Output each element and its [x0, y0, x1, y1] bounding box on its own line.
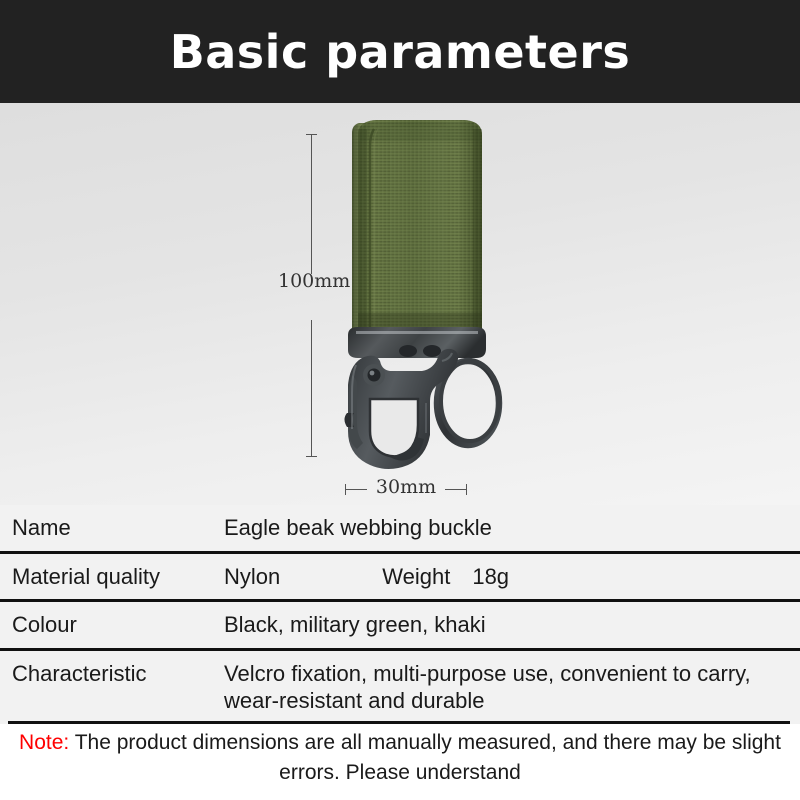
note-label: Note: [19, 731, 69, 754]
dimension-line-upper [311, 134, 312, 274]
table-row: Name Eagle beak webbing buckle [0, 505, 800, 551]
product-photo [330, 113, 520, 483]
spec-label-weight: Weight [382, 563, 450, 591]
spec-value-name: Eagle beak webbing buckle [224, 505, 792, 551]
note-block: Note: The product dimensions are all man… [0, 728, 800, 788]
dimension-tick-bottom [306, 456, 317, 457]
spec-label-name: Name [8, 505, 224, 551]
spec-value-weight: 18g [472, 563, 509, 591]
dimension-line-right [445, 489, 467, 490]
spec-label-colour: Colour [8, 602, 224, 648]
height-dimension-indicator: 100mm [311, 134, 312, 457]
table-row: Material quality NylonWeight18g [0, 551, 800, 600]
width-dimension-label: 30mm [367, 478, 445, 497]
product-spec-page: Basic parameters [0, 0, 800, 800]
product-image-area: 100mm 30mm [0, 103, 800, 505]
dimension-line-left [345, 489, 367, 490]
table-row: Characteristic Velcro fixation, multi-pu… [0, 648, 800, 724]
spec-label-characteristic: Characteristic [8, 651, 224, 697]
note-text: The product dimensions are all manually … [75, 731, 781, 784]
height-dimension-label: 100mm [278, 272, 346, 291]
spec-label-material-quality: Material quality [8, 554, 224, 600]
spec-value-material-text: Nylon [224, 564, 280, 589]
width-dimension-indicator: 30mm [345, 482, 467, 496]
specification-table: Name Eagle beak webbing buckle Material … [0, 505, 800, 724]
page-title: Basic parameters [170, 29, 631, 75]
table-bottom-divider [8, 721, 790, 724]
table-row: Colour Black, military green, khaki [0, 599, 800, 648]
spec-value-material-quality: NylonWeight18g [224, 554, 792, 600]
header-banner: Basic parameters [0, 0, 800, 103]
spec-value-colour: Black, military green, khaki [224, 602, 792, 648]
dimension-tick-right [466, 484, 467, 495]
dimension-line-lower [311, 320, 312, 457]
spec-value-characteristic: Velcro fixation, multi-purpose use, conv… [224, 651, 792, 724]
